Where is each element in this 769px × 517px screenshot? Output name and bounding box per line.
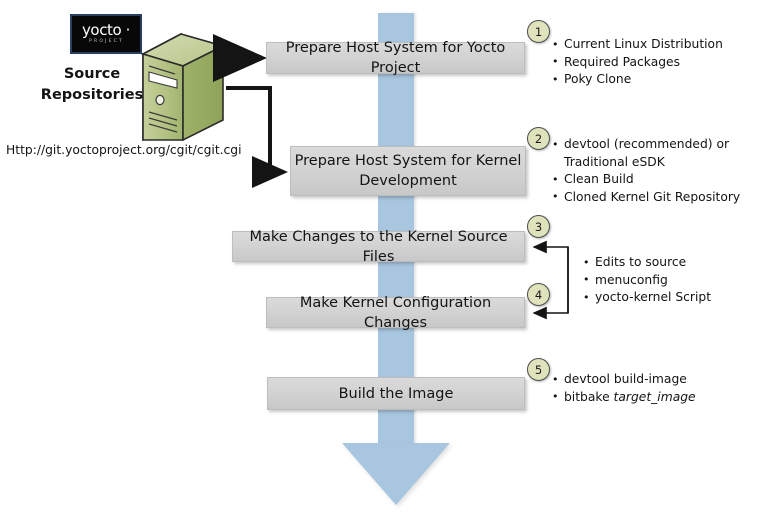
- yocto-project-logo: yocto · PROJECT: [70, 14, 142, 54]
- step-5-notes: devtool build-image bitbake target_image: [552, 371, 752, 406]
- diagram-canvas: yocto · PROJECT Source Repositories Http…: [0, 0, 769, 517]
- list-item: yocto-kernel Script: [583, 289, 763, 307]
- note-text: devtool build-image: [564, 372, 687, 386]
- server-tower-icon: [137, 28, 229, 144]
- list-item: Cloned Kernel Git Repository: [552, 189, 767, 207]
- step-2-notes: devtool (recommended) or Traditional eSD…: [552, 136, 767, 206]
- step-circle-1: 1: [527, 20, 550, 43]
- list-item: Required Packages: [552, 54, 762, 72]
- list-item: devtool (recommended) or Traditional eSD…: [552, 136, 767, 171]
- list-item: Edits to source: [583, 254, 763, 272]
- list-item: devtool build-image: [552, 371, 752, 389]
- list-item: Current Linux Distribution: [552, 36, 762, 54]
- logo-subtext: PROJECT: [89, 40, 124, 45]
- source-label-line1: Source: [32, 64, 152, 85]
- list-item: bitbake target_image: [552, 389, 752, 407]
- process-box-build-image[interactable]: Build the Image: [267, 377, 525, 410]
- step-3-4-shared-notes: Edits to source menuconfig yocto-kernel …: [583, 254, 763, 307]
- main-flow-arrow-head: [342, 443, 450, 505]
- note-text: bitbake: [564, 390, 614, 404]
- step-1-notes: Current Linux Distribution Required Pack…: [552, 36, 762, 89]
- process-box-prepare-host-yocto[interactable]: Prepare Host System for Yocto Project: [266, 42, 525, 74]
- list-item: Poky Clone: [552, 71, 762, 89]
- note-emphasis: target_image: [614, 390, 696, 404]
- list-item: menuconfig: [583, 272, 763, 290]
- process-box-make-source-changes[interactable]: Make Changes to the Kernel Source Files: [232, 231, 525, 262]
- process-box-make-config-changes[interactable]: Make Kernel Configuration Changes: [266, 297, 525, 328]
- source-repository-url: Http://git.yoctoproject.org/cgit/cgit.cg…: [6, 143, 242, 157]
- step-circle-4: 4: [527, 283, 550, 306]
- source-label-line2: Repositories: [32, 85, 152, 106]
- step-circle-3: 3: [527, 215, 550, 238]
- logo-wordmark: yocto ·: [82, 23, 130, 38]
- step-circle-5: 5: [527, 358, 550, 381]
- process-box-prepare-host-kernel[interactable]: Prepare Host System for Kernel Developme…: [290, 146, 526, 196]
- list-item: Clean Build: [552, 171, 767, 189]
- source-repositories-label: Source Repositories: [32, 64, 152, 106]
- step-circle-2: 2: [527, 127, 550, 150]
